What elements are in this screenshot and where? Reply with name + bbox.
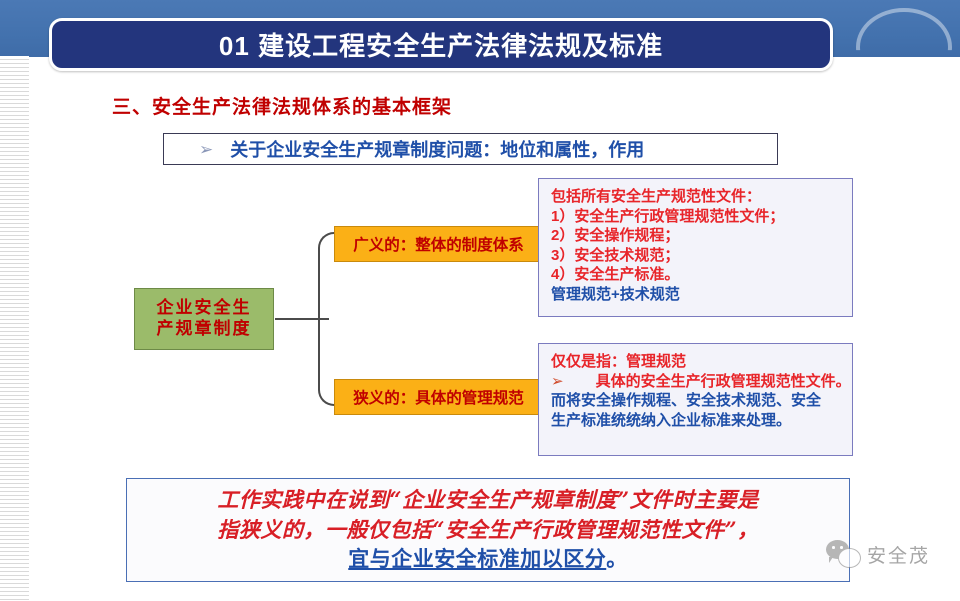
watermark-label: 安全茂 xyxy=(867,541,930,568)
diagram-branch-narrow: 狭义的：具体的管理规范 xyxy=(334,379,543,415)
detail-line-text: 具体的安全生产行政管理规范性文件。 xyxy=(596,373,851,390)
arc-decoration-icon xyxy=(856,8,952,86)
detail-line: 3）安全技术规范； xyxy=(551,246,842,266)
slide-canvas: 01 建设工程安全生产法律法规及标准 三、安全生产法律法规体系的基本框架 ➢ 关… xyxy=(0,0,960,601)
conclusion-line-1: 工作实践中在说到“企业安全生产规章制度”文件时主要是 xyxy=(217,485,758,515)
detail-line-bulleted: ➢具体的安全生产行政管理规范性文件。 xyxy=(551,372,842,392)
detail-line: 包括所有安全生产规范性文件： xyxy=(551,187,842,207)
detail-box-broad: 包括所有安全生产规范性文件： 1）安全生产行政管理规范性文件； 2）安全操作规程… xyxy=(538,178,853,317)
detail-line: 2）安全操作规程； xyxy=(551,226,842,246)
diagram-branch-broad: 广义的：整体的制度体系 xyxy=(334,226,543,262)
conclusion-underlined-text: 宜与企业安全标准加以区分 xyxy=(348,548,606,571)
diagram-branch-narrow-label: 狭义的：具体的管理规范 xyxy=(353,386,524,408)
page-title: 01 建设工程安全生产法律法规及标准 xyxy=(219,26,663,63)
sub-heading-box: ➢ 关于企业安全生产规章制度问题：地位和属性，作用 xyxy=(163,133,778,165)
slide-title-box: 01 建设工程安全生产法律法规及标准 xyxy=(49,18,833,71)
arrow-bullet-icon: ➢ xyxy=(199,141,213,158)
diagram-root-node: 企业安全生 产规章制度 xyxy=(134,288,274,350)
conclusion-box: 工作实践中在说到“企业安全生产规章制度”文件时主要是 指狭义的，一般仅包括“安全… xyxy=(126,478,850,582)
detail-line: 生产标准统统纳入企业标准来处理。 xyxy=(551,411,842,431)
detail-line: 仅仅是指：管理规范 xyxy=(551,352,842,372)
detail-line: 管理规范+技术规范 xyxy=(551,285,842,305)
diagram-root-line1: 企业安全生 xyxy=(157,298,252,319)
detail-line: 而将安全操作规程、安全技术规范、安全 xyxy=(551,391,842,411)
section-heading: 三、安全生产法律法规体系的基本框架 xyxy=(112,92,452,119)
watermark: 安全茂 xyxy=(826,540,930,568)
diagram-root-line2: 产规章制度 xyxy=(157,319,252,340)
conclusion-line-2: 指狭义的，一般仅包括“安全生产行政管理规范性文件”， xyxy=(217,515,758,545)
conclusion-line-3: 宜与企业安全标准加以区分。 xyxy=(348,545,628,575)
wechat-dot xyxy=(832,546,835,549)
conclusion-line-3-tail: 。 xyxy=(606,548,628,571)
diagram-branch-broad-label: 广义的：整体的制度体系 xyxy=(353,233,524,255)
wechat-dot xyxy=(840,546,843,549)
detail-box-narrow: 仅仅是指：管理规范 ➢具体的安全生产行政管理规范性文件。 而将安全操作规程、安全… xyxy=(538,343,853,456)
wechat-bubble-front xyxy=(838,548,861,568)
detail-line: 1）安全生产行政管理规范性文件； xyxy=(551,207,842,227)
detail-line: 4）安全生产标准。 xyxy=(551,265,842,285)
wechat-logo-icon xyxy=(826,540,860,568)
arrow-bullet-icon: ➢ xyxy=(551,373,564,390)
left-stripe-decoration xyxy=(0,56,29,601)
sub-heading-label: 关于企业安全生产规章制度问题：地位和属性，作用 xyxy=(230,136,644,162)
